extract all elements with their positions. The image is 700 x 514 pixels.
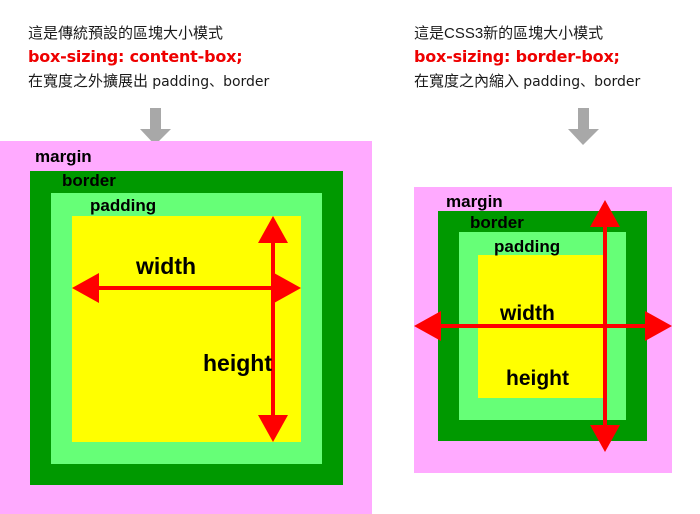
- caption-left-line-3: 在寬度之外擴展出 padding、border: [28, 70, 269, 94]
- width-label: width: [500, 303, 555, 324]
- caption-right-line-1: 這是CSS3新的區塊大小模式: [414, 22, 640, 45]
- caption-content-box: 這是傳統預設的區塊大小模式 box-sizing: content-box; 在…: [28, 22, 269, 94]
- caption-right-line-3-prefix: 在寬度之內縮入: [414, 73, 519, 90]
- down-arrow-head: [568, 129, 599, 145]
- arrowhead-right-icon: [645, 311, 672, 341]
- height-measure-line: [603, 214, 607, 438]
- padding-label: padding: [494, 238, 560, 255]
- width-label: width: [136, 255, 196, 278]
- caption-right-declaration: box-sizing: border-box;: [414, 45, 640, 70]
- padding-label: padding: [90, 197, 156, 214]
- height-label: height: [506, 368, 569, 389]
- arrowhead-left-icon: [72, 273, 99, 303]
- arrowhead-up-icon: [258, 216, 288, 243]
- width-measure-line: [86, 286, 287, 290]
- caption-right-line-3-terms: padding、border: [523, 74, 640, 90]
- arrowhead-down-icon: [258, 415, 288, 442]
- arrowhead-left-icon: [414, 311, 441, 341]
- caption-left-declaration: box-sizing: content-box;: [28, 45, 269, 70]
- caption-left-line-1: 這是傳統預設的區塊大小模式: [28, 22, 269, 45]
- caption-left-line-3-terms: padding、border: [152, 74, 269, 90]
- margin-label: margin: [35, 148, 92, 165]
- caption-border-box: 這是CSS3新的區塊大小模式 box-sizing: border-box; 在…: [414, 22, 640, 94]
- border-label: border: [470, 214, 524, 231]
- down-arrow-shaft: [578, 108, 589, 130]
- arrowhead-up-icon: [590, 200, 620, 227]
- caption-left-line-3-prefix: 在寬度之外擴展出: [28, 73, 148, 90]
- caption-right-line-3: 在寬度之內縮入 padding、border: [414, 70, 640, 94]
- box-model-comparison-figure: 這是傳統預設的區塊大小模式 box-sizing: content-box; 在…: [0, 0, 700, 514]
- down-arrow-icon: [568, 108, 599, 146]
- height-label: height: [203, 352, 272, 375]
- margin-label: margin: [446, 193, 503, 210]
- height-measure-arrow: [590, 200, 620, 452]
- border-label: border: [62, 172, 116, 189]
- height-measure-arrow: [258, 216, 288, 442]
- height-measure-line: [271, 230, 275, 428]
- arrowhead-down-icon: [590, 425, 620, 452]
- down-arrow-shaft: [150, 108, 161, 130]
